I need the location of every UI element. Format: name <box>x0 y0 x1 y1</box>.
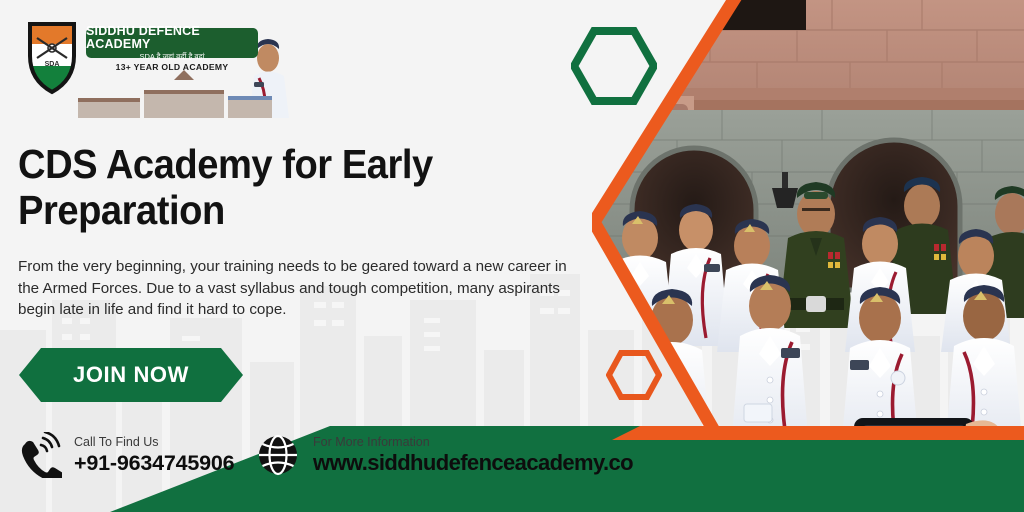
green-hexagon-decor <box>571 26 657 106</box>
phone-ringing-icon <box>16 432 62 478</box>
svg-text:SDA: SDA <box>45 61 60 68</box>
phone-number[interactable]: +91-9634745906 <box>74 453 234 475</box>
promo-banner: SDA <box>0 0 1024 512</box>
contact-phone[interactable]: Call To Find Us +91-9634745906 <box>16 432 234 478</box>
academy-experience-line: 13+ YEAR OLD ACADEMY <box>86 62 258 72</box>
website-label: For More Information <box>313 436 633 450</box>
hero-description: From the very beginning, your training n… <box>18 256 578 321</box>
orange-hexagon-decor <box>606 349 662 401</box>
page-title: CDS Academy for Early Preparation <box>18 142 455 234</box>
contact-website[interactable]: For More Information www.siddhudefenceac… <box>255 432 633 478</box>
academy-logo-block[interactable]: SDA <box>18 18 298 118</box>
academy-tagline-hindi: SDA है जहां वर्दी है वहां <box>139 53 204 61</box>
website-url[interactable]: www.siddhudefenceacademy.co <box>313 452 633 474</box>
globe-icon <box>255 432 301 478</box>
join-now-button[interactable]: JOIN NOW <box>19 348 243 402</box>
academy-name-banner: SIDDHU DEFENCE ACADEMY SDA है जहां वर्दी… <box>86 28 258 58</box>
phone-label: Call To Find Us <box>74 436 234 450</box>
academy-name: SIDDHU DEFENCE ACADEMY <box>86 25 258 50</box>
